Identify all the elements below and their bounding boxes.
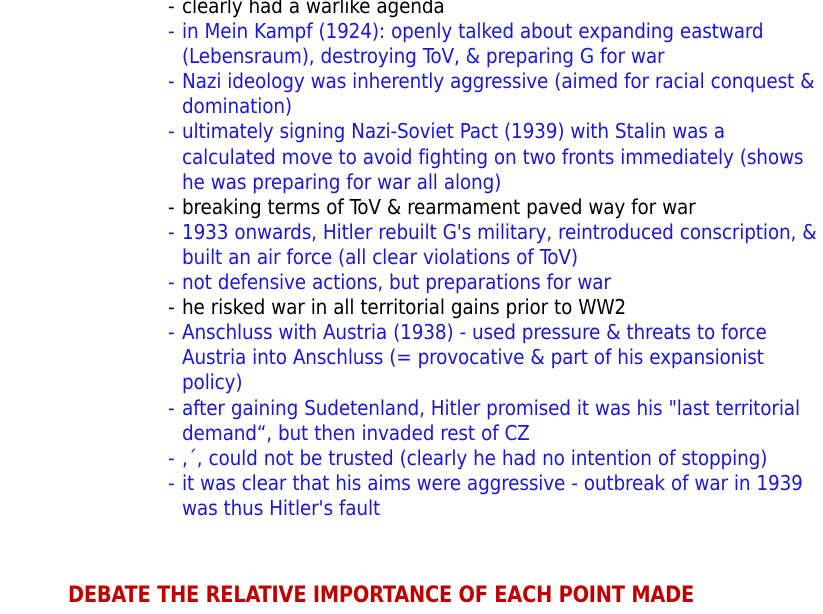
bullet-item: -ultimately signing Nazi-Soviet Pact (19… [166,119,818,194]
bullet-marker: - [168,270,175,295]
debate-heading: DEBATE THE RELATIVE IMPORTANCE OF EACH P… [68,582,737,608]
bullet-item: -Nazi ideology was inherently aggressive… [166,69,818,119]
bullet-marker: - [168,320,175,345]
bullet-item: -clearly had a warlike agenda [166,0,818,19]
bullet-marker: - [168,220,175,245]
bullet-text: Anschluss with Austria (1938) - used pre… [182,320,818,395]
bullet-text: he risked war in all territorial gains p… [182,295,818,320]
bullet-marker: - [168,446,175,471]
bullet-text: clearly had a warlike agenda [182,0,818,19]
bullet-item: -it was clear that his aims were aggress… [166,471,818,521]
bullet-text: in Mein Kampf (1924): openly talked abou… [182,19,818,69]
bullet-item: -Anschluss with Austria (1938) - used pr… [166,320,818,395]
bullet-item: -after gaining Sudetenland, Hitler promi… [166,396,818,446]
bullet-text: ultimately signing Nazi-Soviet Pact (193… [182,119,818,194]
slide-canvas: -clearly had a warlike agenda-in Mein Ka… [0,0,823,614]
bullet-item: -1933 onwards, Hitler rebuilt G's milita… [166,220,818,270]
bullet-text: not defensive actions, but preparations … [182,270,818,295]
bullet-marker: - [168,69,175,94]
bullet-list: -clearly had a warlike agenda-in Mein Ka… [166,0,818,521]
bullet-item: -in Mein Kampf (1924): openly talked abo… [166,19,818,69]
bullet-marker: - [168,19,175,44]
bullet-text: breaking terms of ToV & rearmament paved… [182,195,818,220]
bullet-item: -breaking terms of ToV & rearmament pave… [166,195,818,220]
bullet-text: 1933 onwards, Hitler rebuilt G's militar… [182,220,818,270]
bullet-item: -not defensive actions, but preparations… [166,270,818,295]
bullet-text: after gaining Sudetenland, Hitler promis… [182,396,818,446]
bullet-marker: - [168,471,175,496]
bullet-text: Nazi ideology was inherently aggressive … [182,69,818,119]
bullet-marker: - [168,119,175,144]
bullet-marker: - [168,195,175,220]
bullet-text: it was clear that his aims were aggressi… [182,471,818,521]
bullet-item: -,´, could not be trusted (clearly he ha… [166,446,818,471]
bullet-marker: - [168,0,175,19]
bullet-marker: - [168,396,175,421]
bullet-item: -he risked war in all territorial gains … [166,295,818,320]
bullet-text: ,´, could not be trusted (clearly he had… [182,446,818,471]
bullet-marker: - [168,295,175,320]
